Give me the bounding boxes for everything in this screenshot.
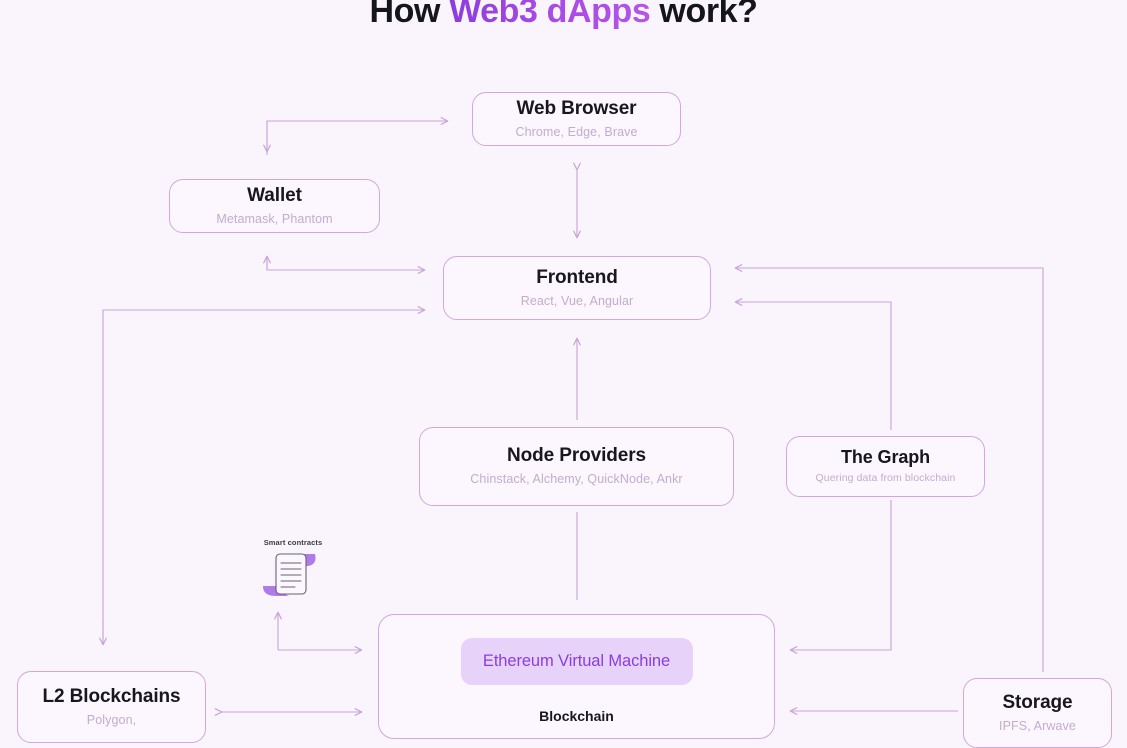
node-wallet[interactable]: Wallet Metamask, Phantom bbox=[169, 179, 380, 233]
node-title: Storage bbox=[1002, 693, 1072, 714]
node-title: L2 Blockchains bbox=[43, 687, 181, 708]
diagram-canvas: How Web3 dApps work? bbox=[0, 0, 1127, 725]
node-subtitle: Metamask, Phantom bbox=[216, 213, 332, 227]
smart-contracts-label: Smart contracts bbox=[248, 538, 338, 547]
node-title: Node Providers bbox=[507, 446, 646, 467]
evm-badge[interactable]: Ethereum Virtual Machine bbox=[461, 638, 693, 685]
node-title: The Graph bbox=[841, 448, 930, 468]
node-node-providers[interactable]: Node Providers Chinstack, Alchemy, Quick… bbox=[419, 427, 734, 506]
wire-thegraph-frontend bbox=[735, 302, 891, 430]
node-the-graph[interactable]: The Graph Quering data from blockchain bbox=[786, 436, 985, 497]
node-title: Frontend bbox=[536, 268, 618, 289]
page-title: How Web3 dApps work? bbox=[0, 0, 1127, 31]
wire-wallet-to-browser bbox=[267, 121, 448, 155]
node-title: Wallet bbox=[247, 186, 302, 207]
node-subtitle: Quering data from blockchain bbox=[816, 473, 956, 485]
node-web-browser[interactable]: Web Browser Chrome, Edge, Brave bbox=[472, 92, 681, 146]
node-subtitle: Polygon, bbox=[87, 714, 136, 728]
node-blockchain[interactable]: Ethereum Virtual Machine Blockchain bbox=[378, 614, 775, 739]
smart-contracts-group[interactable]: Smart contracts bbox=[248, 538, 338, 600]
node-subtitle: React, Vue, Angular bbox=[521, 295, 634, 309]
blockchain-label: Blockchain bbox=[539, 708, 614, 724]
node-l2-blockchains[interactable]: L2 Blockchains Polygon, bbox=[17, 671, 206, 743]
node-subtitle: IPFS, Arwave bbox=[999, 720, 1076, 734]
title-after: work? bbox=[650, 0, 757, 30]
document-scroll-icon bbox=[259, 550, 327, 598]
wire-thegraph-blockchain bbox=[790, 500, 891, 650]
title-before: How bbox=[369, 0, 449, 30]
node-frontend[interactable]: Frontend React, Vue, Angular bbox=[443, 256, 711, 320]
node-subtitle: Chrome, Edge, Brave bbox=[515, 126, 637, 140]
node-title: Web Browser bbox=[517, 99, 637, 120]
title-accent: Web3 dApps bbox=[449, 0, 650, 30]
wire-wallet-frontend-h bbox=[267, 258, 425, 270]
node-subtitle: Chinstack, Alchemy, QuickNode, Ankr bbox=[470, 473, 682, 487]
node-storage[interactable]: Storage IPFS, Arwave bbox=[963, 678, 1112, 748]
